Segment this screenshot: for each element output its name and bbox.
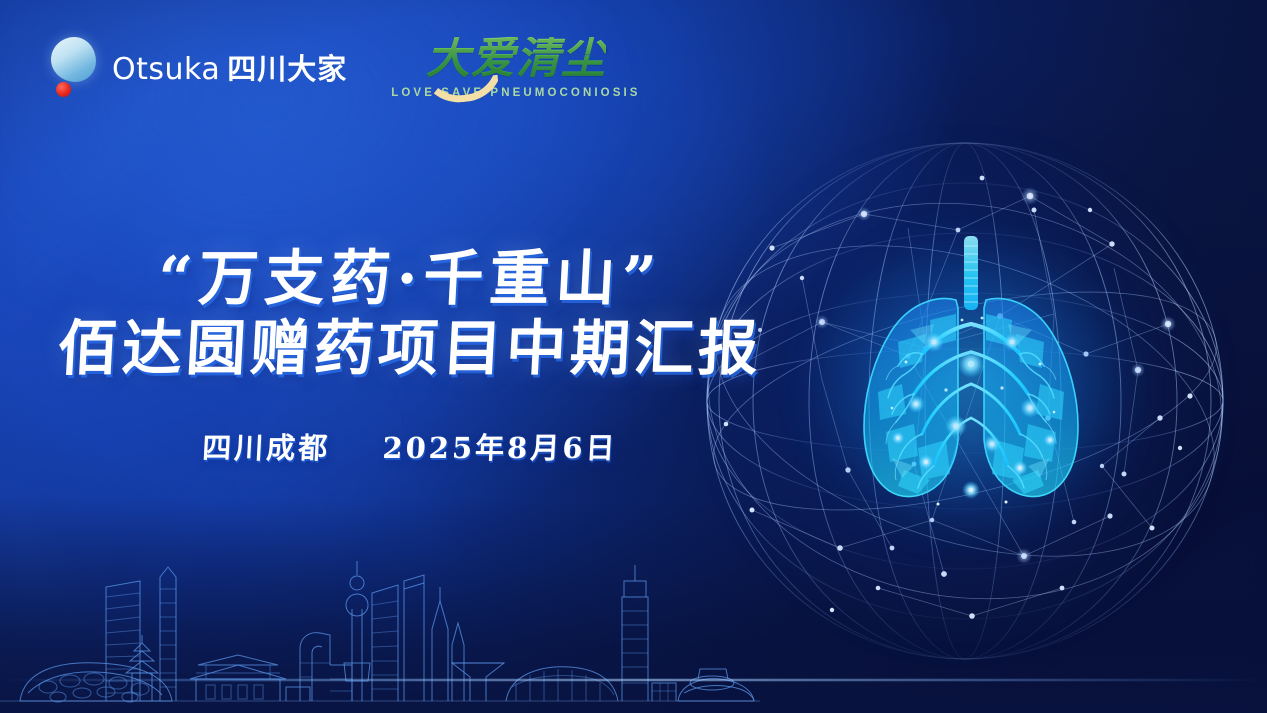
otsuka-red-dot: [56, 82, 71, 97]
lungs-glow: [806, 234, 1136, 534]
daaiqingchen-chinese-name: 大爱清尘: [426, 37, 606, 81]
chinese-city-skyline: [0, 553, 760, 713]
title-block: “万支药·千重山” 佰达圆赠药项目中期汇报 四川成都 2025年8月6日: [0, 246, 820, 467]
otsuka-english-name: Otsuka: [112, 52, 220, 87]
title-line-1: “万支药·千重山”: [0, 246, 822, 313]
glowing-lungs-graphic: [806, 212, 1136, 542]
horizon-line: [0, 679, 1267, 681]
subtitle-line: 四川成都 2025年8月6日: [0, 425, 821, 467]
logo-bar: Otsuka 四川大家 大爱清尘 LOVE SAVE PNEUMOCONIOSI…: [44, 34, 641, 100]
otsuka-wordmark: Otsuka 四川大家: [112, 46, 347, 88]
daaiqingchen-english-tagline: LOVE SAVE PNEUMOCONIOSIS: [391, 87, 640, 99]
otsuka-blob-icon: [44, 34, 98, 100]
daaiqingchen-logo: 大爱清尘 LOVE SAVE PNEUMOCONIOSIS: [391, 35, 640, 99]
subtitle-date: 2025年8月6日: [382, 431, 619, 465]
title-slide: Otsuka 四川大家 大爱清尘 LOVE SAVE PNEUMOCONIOSI…: [0, 0, 1267, 713]
title-line-2: 佰达圆赠药项目中期汇报: [0, 315, 822, 385]
otsuka-blob-shape: [51, 37, 96, 82]
otsuka-logo: Otsuka 四川大家: [44, 34, 347, 100]
subtitle-location: 四川成都: [201, 431, 331, 465]
otsuka-chinese-name: 四川大家: [227, 46, 347, 88]
